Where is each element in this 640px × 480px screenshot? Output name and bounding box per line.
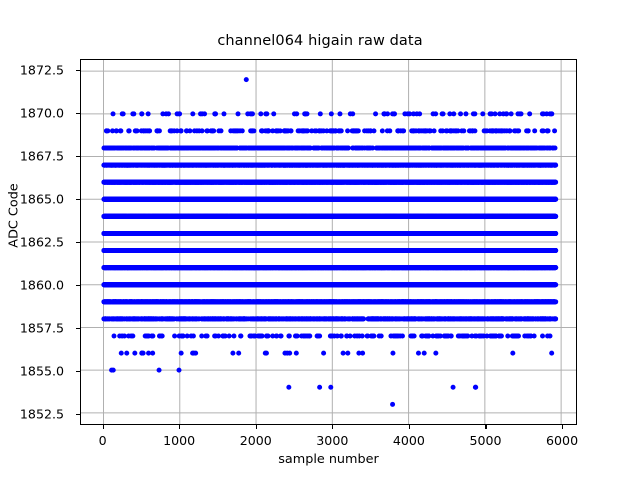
y-axis-label: ADC Code bbox=[7, 136, 22, 296]
y-tick-label: 1867.5 bbox=[20, 149, 64, 164]
x-axis-tick-labels: 0100020003000400050006000 bbox=[80, 425, 577, 453]
scatter-points bbox=[81, 60, 576, 424]
y-tick-label: 1872.5 bbox=[20, 63, 64, 78]
x-tick-label: 3000 bbox=[316, 433, 348, 448]
matplotlib-figure: channel064 higain raw data 1852.51855.01… bbox=[0, 0, 640, 480]
x-tick-label: 4000 bbox=[393, 433, 425, 448]
x-tick-mark bbox=[179, 425, 180, 429]
y-tick-label: 1865.0 bbox=[20, 192, 64, 207]
x-tick-label: 2000 bbox=[240, 433, 272, 448]
x-tick-mark bbox=[256, 425, 257, 429]
y-tick-label: 1852.5 bbox=[20, 406, 64, 421]
plot-area bbox=[80, 59, 577, 425]
x-tick-label: 1000 bbox=[163, 433, 195, 448]
x-tick-label: 5000 bbox=[469, 433, 501, 448]
y-tick-label: 1870.0 bbox=[20, 106, 64, 121]
x-tick-label: 6000 bbox=[546, 433, 578, 448]
x-tick-mark bbox=[332, 425, 333, 429]
x-tick-mark bbox=[562, 425, 563, 429]
x-tick-label: 0 bbox=[99, 433, 107, 448]
x-tick-mark bbox=[103, 425, 104, 429]
y-tick-label: 1860.0 bbox=[20, 277, 64, 292]
x-tick-mark bbox=[485, 425, 486, 429]
y-tick-label: 1855.0 bbox=[20, 363, 64, 378]
x-tick-mark bbox=[409, 425, 410, 429]
y-tick-label: 1857.5 bbox=[20, 320, 64, 335]
x-axis-label: sample number bbox=[80, 452, 577, 467]
page-title: channel064 higain raw data bbox=[0, 33, 640, 49]
y-tick-label: 1862.5 bbox=[20, 235, 64, 250]
